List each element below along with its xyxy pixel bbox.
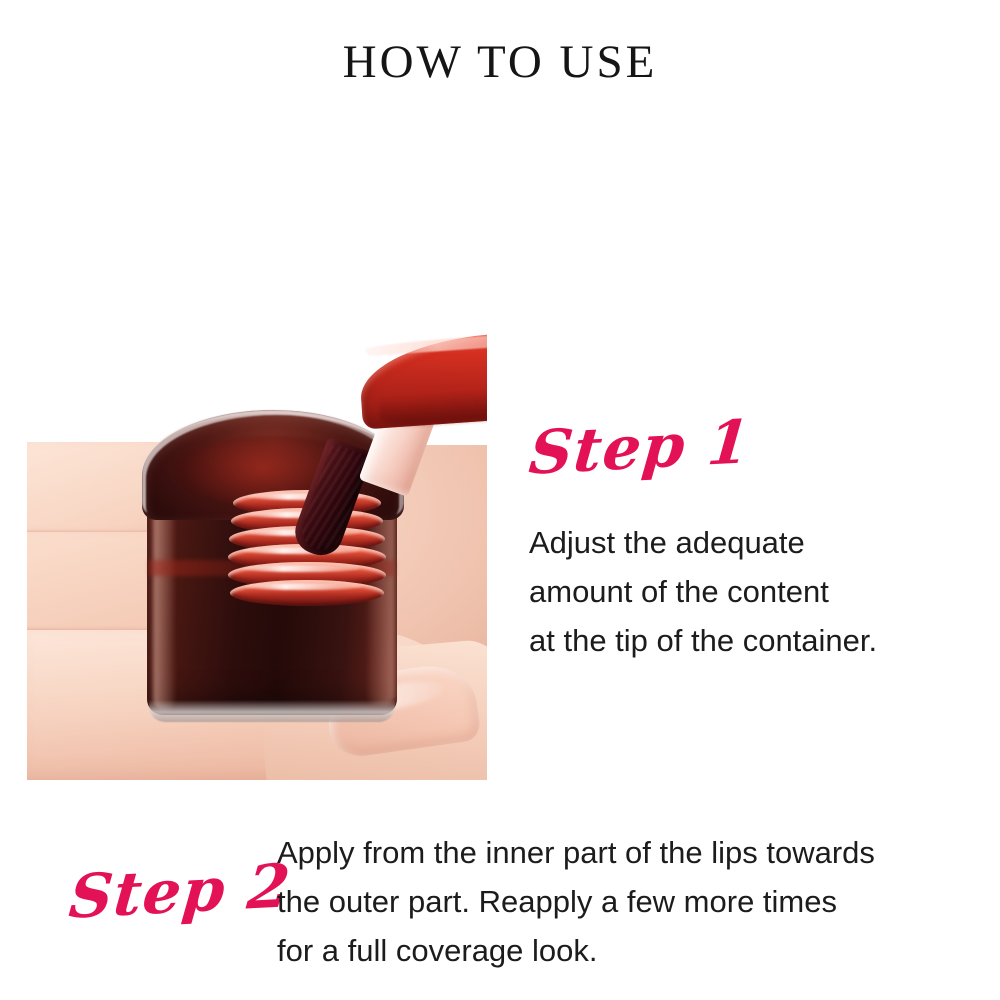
step-1-description: Adjust the adequate amount of the conten… [529, 518, 979, 665]
step-1-line-1: Adjust the adequate [529, 518, 979, 567]
step-2-label: Step 2 [67, 856, 293, 927]
step-2-line-3: for a full coverage look. [277, 926, 967, 975]
page-title: HOW TO USE [0, 38, 1000, 87]
step-2-description: Apply from the inner part of the lips to… [277, 828, 967, 975]
step-1-line-3: at the tip of the container. [529, 616, 979, 665]
step-1-line-2: amount of the content [529, 567, 979, 616]
bottle-bottom-rim [149, 700, 395, 722]
product-photo [27, 160, 487, 780]
product-photo-scene [27, 160, 487, 780]
step-1-label: Step 1 [527, 412, 753, 483]
how-to-use-page: HOW TO USE [0, 0, 1000, 1000]
step-2-line-1: Apply from the inner part of the lips to… [277, 828, 967, 877]
step-2-line-2: the outer part. Reapply a few more times [277, 877, 967, 926]
